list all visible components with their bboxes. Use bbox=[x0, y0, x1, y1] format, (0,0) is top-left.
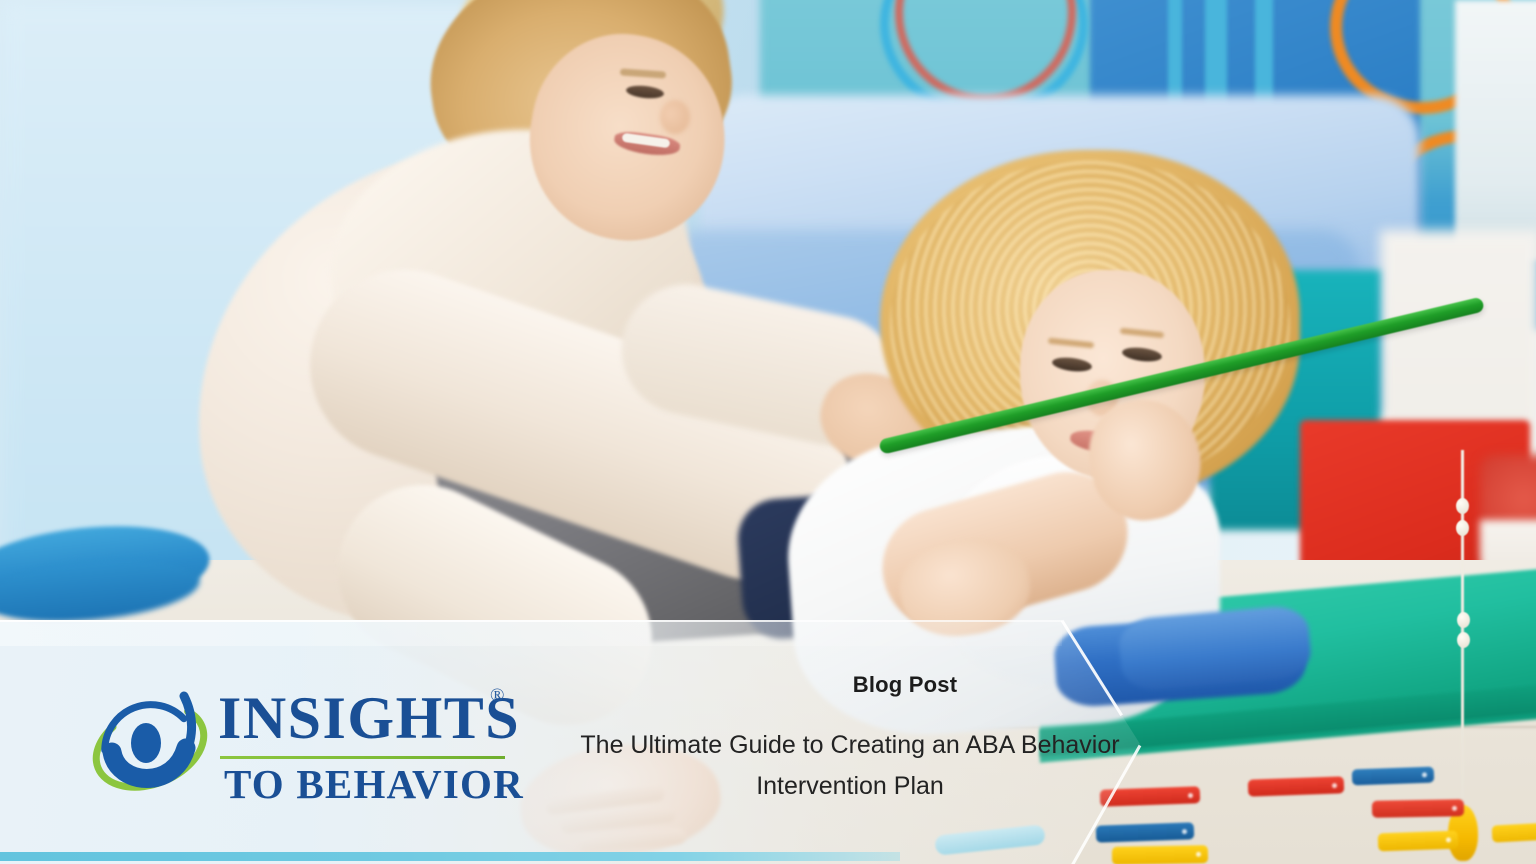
white-cabinet bbox=[1455, 0, 1536, 260]
fish-piece-yellow bbox=[1378, 831, 1459, 852]
banner-image: INSIGHTS ® TO BEHAVIOR Blog Post The Ult… bbox=[0, 0, 1536, 864]
overlay-top-band bbox=[0, 622, 1062, 646]
banner-kicker: Blog Post bbox=[760, 672, 1050, 698]
overlay-top-rule bbox=[0, 620, 1062, 622]
logo-secondary-word: TO BEHAVIOR bbox=[224, 764, 524, 805]
brand-logo[interactable]: INSIGHTS ® TO BEHAVIOR bbox=[88, 682, 548, 812]
line-bead bbox=[1457, 612, 1470, 628]
logo-wordmark: INSIGHTS ® TO BEHAVIOR bbox=[218, 682, 548, 810]
fish-piece-red bbox=[1372, 799, 1464, 818]
line-bead bbox=[1456, 498, 1469, 514]
line-bead bbox=[1456, 520, 1469, 536]
overlay-bottom-accent-bar bbox=[0, 852, 900, 861]
fish-piece-blue bbox=[1352, 767, 1435, 786]
fish-piece-yellow bbox=[1492, 822, 1536, 842]
logo-divider bbox=[220, 756, 505, 759]
banner-title: The Ultimate Guide to Creating an ABA Be… bbox=[560, 725, 1140, 806]
registered-trademark-icon: ® bbox=[490, 685, 504, 707]
fish-piece-yellow bbox=[1112, 845, 1208, 864]
woman-nose bbox=[660, 100, 690, 134]
logo-primary-word: INSIGHTS bbox=[218, 688, 520, 748]
insights-to-behavior-mark-icon bbox=[88, 686, 214, 808]
fish-piece-blue bbox=[1096, 822, 1195, 842]
line-bead bbox=[1457, 632, 1470, 648]
fish-piece-red bbox=[1248, 776, 1345, 796]
